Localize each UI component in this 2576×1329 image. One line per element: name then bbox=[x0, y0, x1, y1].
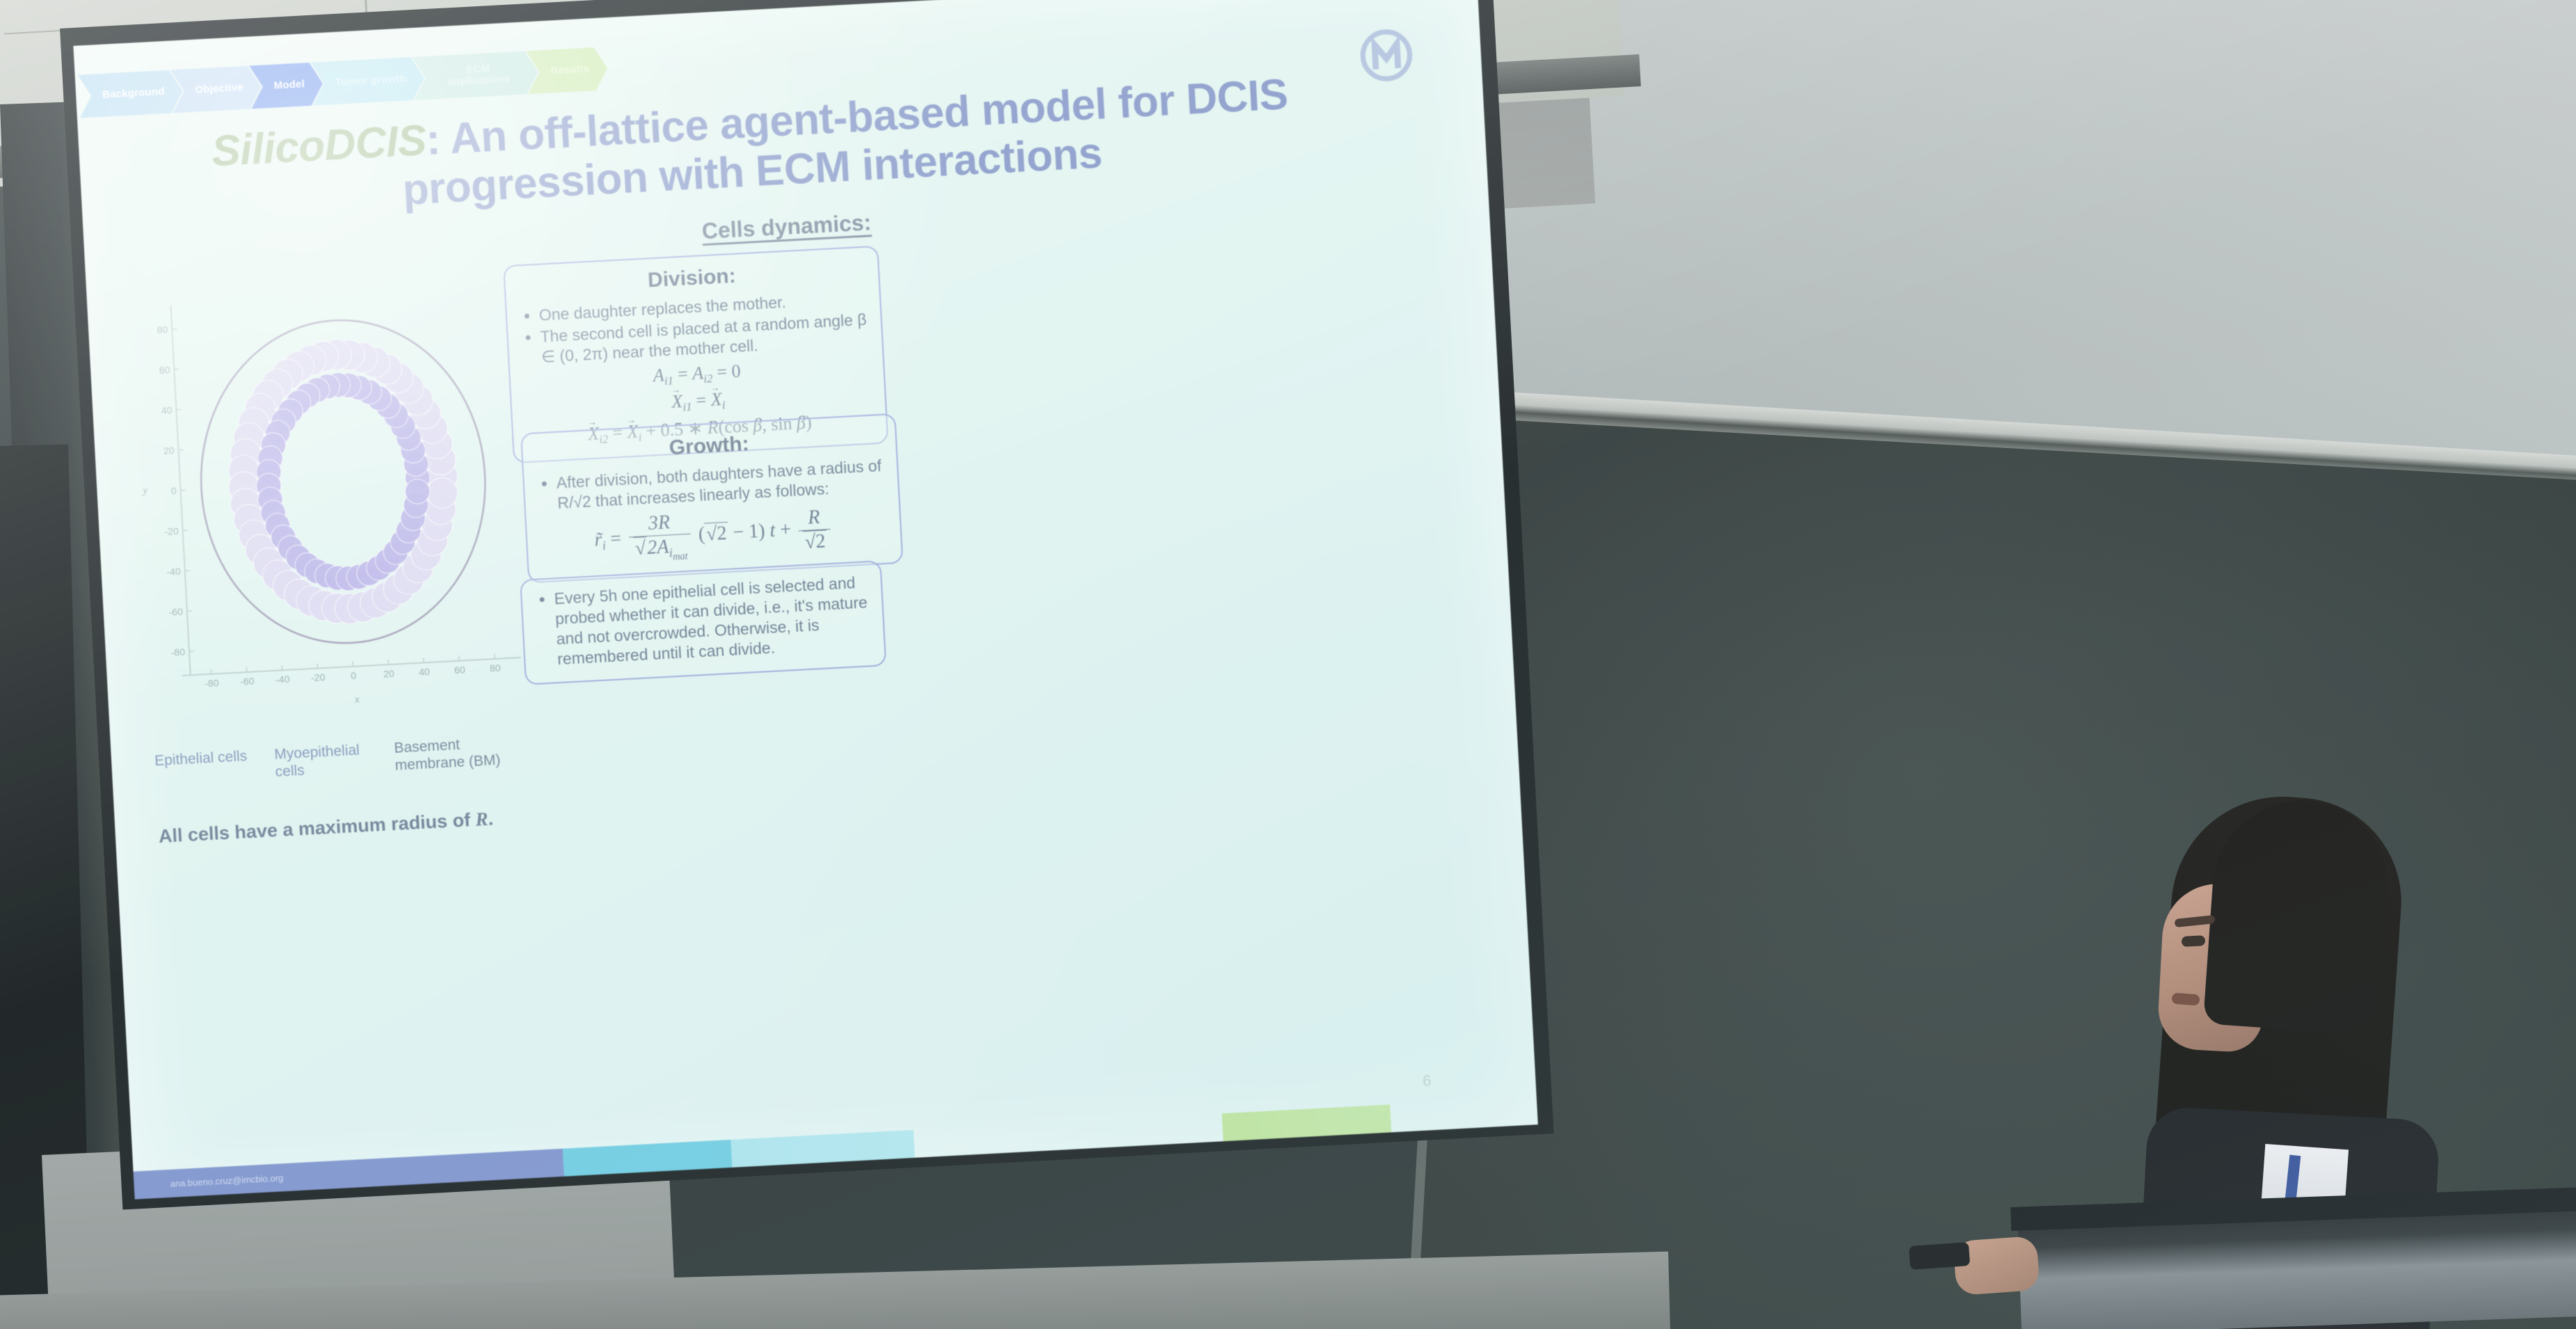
nav-step-tumor-growth[interactable]: Tumor growth bbox=[310, 56, 425, 106]
nav-step-label: Results bbox=[550, 64, 589, 77]
max-radius-text-a: All cells have a maximum radius of bbox=[158, 809, 476, 847]
slide-progress-nav: Background Objective Model Tumor growth … bbox=[89, 47, 609, 118]
presenter-mouth bbox=[2171, 993, 2200, 1006]
x-tick-label: -80 bbox=[205, 677, 219, 689]
nav-step-label: Background bbox=[102, 86, 165, 100]
x-tick-label: 20 bbox=[383, 668, 395, 680]
slide-number: 6 bbox=[1422, 1072, 1432, 1090]
probing-box: Every 5h one epithelial cell is selected… bbox=[520, 560, 886, 685]
max-radius-text-c: . bbox=[488, 808, 494, 829]
x-tick-label: -40 bbox=[275, 674, 290, 685]
plot-svg: 806040200-20-40-60-80 -80-60-40-20020406… bbox=[120, 268, 532, 733]
presentation-clicker[interactable] bbox=[1909, 1242, 1970, 1270]
nav-step-label: ECM implications bbox=[436, 62, 521, 88]
y-tick-label: -20 bbox=[164, 525, 179, 537]
classroom-scene: Background Objective Model Tumor growth … bbox=[0, 0, 2576, 1329]
nav-step-label: Model bbox=[273, 79, 305, 91]
y-tick-label: 80 bbox=[157, 324, 168, 335]
y-tick-label: 40 bbox=[161, 404, 173, 416]
nav-step-objective[interactable]: Objective bbox=[170, 65, 262, 113]
projection-screen: Background Objective Model Tumor growth … bbox=[72, 0, 1539, 1223]
growth-box: Growth: After division, both daughters h… bbox=[520, 413, 904, 584]
max-radius-symbol: R bbox=[475, 809, 489, 830]
x-tick-label: -60 bbox=[240, 675, 255, 687]
x-tick-label: 80 bbox=[490, 662, 502, 674]
x-tick-label: -20 bbox=[311, 671, 326, 683]
nav-step-label: Tumor growth bbox=[335, 74, 407, 88]
x-tick-label: 60 bbox=[454, 664, 466, 676]
nav-step-label: Objective bbox=[195, 82, 243, 95]
legend-item-basement-membrane: Basement membrane (BM) bbox=[394, 732, 531, 774]
y-tick-label: -40 bbox=[166, 566, 181, 578]
legend-item-epithelial: Epithelial cells bbox=[154, 747, 258, 787]
x-axis-label: x bbox=[354, 694, 360, 705]
x-tick-label: 40 bbox=[419, 666, 431, 678]
footer-email: ana.bueno.cruz@imcbio.org bbox=[170, 1172, 283, 1189]
duct-cross-section-plot: 806040200-20-40-60-80 -80-60-40-20020406… bbox=[120, 268, 532, 733]
list-item: Every 5h one epithelial cell is selected… bbox=[554, 572, 872, 669]
title-brand: SilicoDCIS bbox=[210, 116, 427, 175]
plot-legend: Epithelial cells Myoepithelial cells Bas… bbox=[154, 732, 531, 787]
y-tick-label: -80 bbox=[170, 646, 185, 658]
slide: Background Objective Model Tumor growth … bbox=[73, 0, 1537, 1200]
y-tick-label: -60 bbox=[168, 606, 183, 618]
nav-step-background[interactable]: Background bbox=[78, 70, 184, 118]
legend-item-myoepithelial: Myoepithelial cells bbox=[274, 740, 378, 781]
y-tick-label: 0 bbox=[170, 485, 177, 496]
y-tick-label: 60 bbox=[159, 364, 170, 376]
x-tick-label: 0 bbox=[351, 670, 357, 681]
probing-bullets: Every 5h one epithelial cell is selected… bbox=[534, 572, 872, 670]
nav-step-results[interactable]: Results bbox=[526, 47, 609, 94]
nav-step-ecm-implications[interactable]: ECM implications bbox=[412, 51, 539, 100]
y-tick-label: 20 bbox=[163, 445, 175, 456]
slide-footer: ana.bueno.cruz@imcbio.org bbox=[134, 1097, 1538, 1199]
max-radius-note: All cells have a maximum radius of R. bbox=[158, 808, 494, 847]
y-axis-label: y bbox=[141, 485, 148, 496]
presenter-eye bbox=[2182, 935, 2206, 947]
